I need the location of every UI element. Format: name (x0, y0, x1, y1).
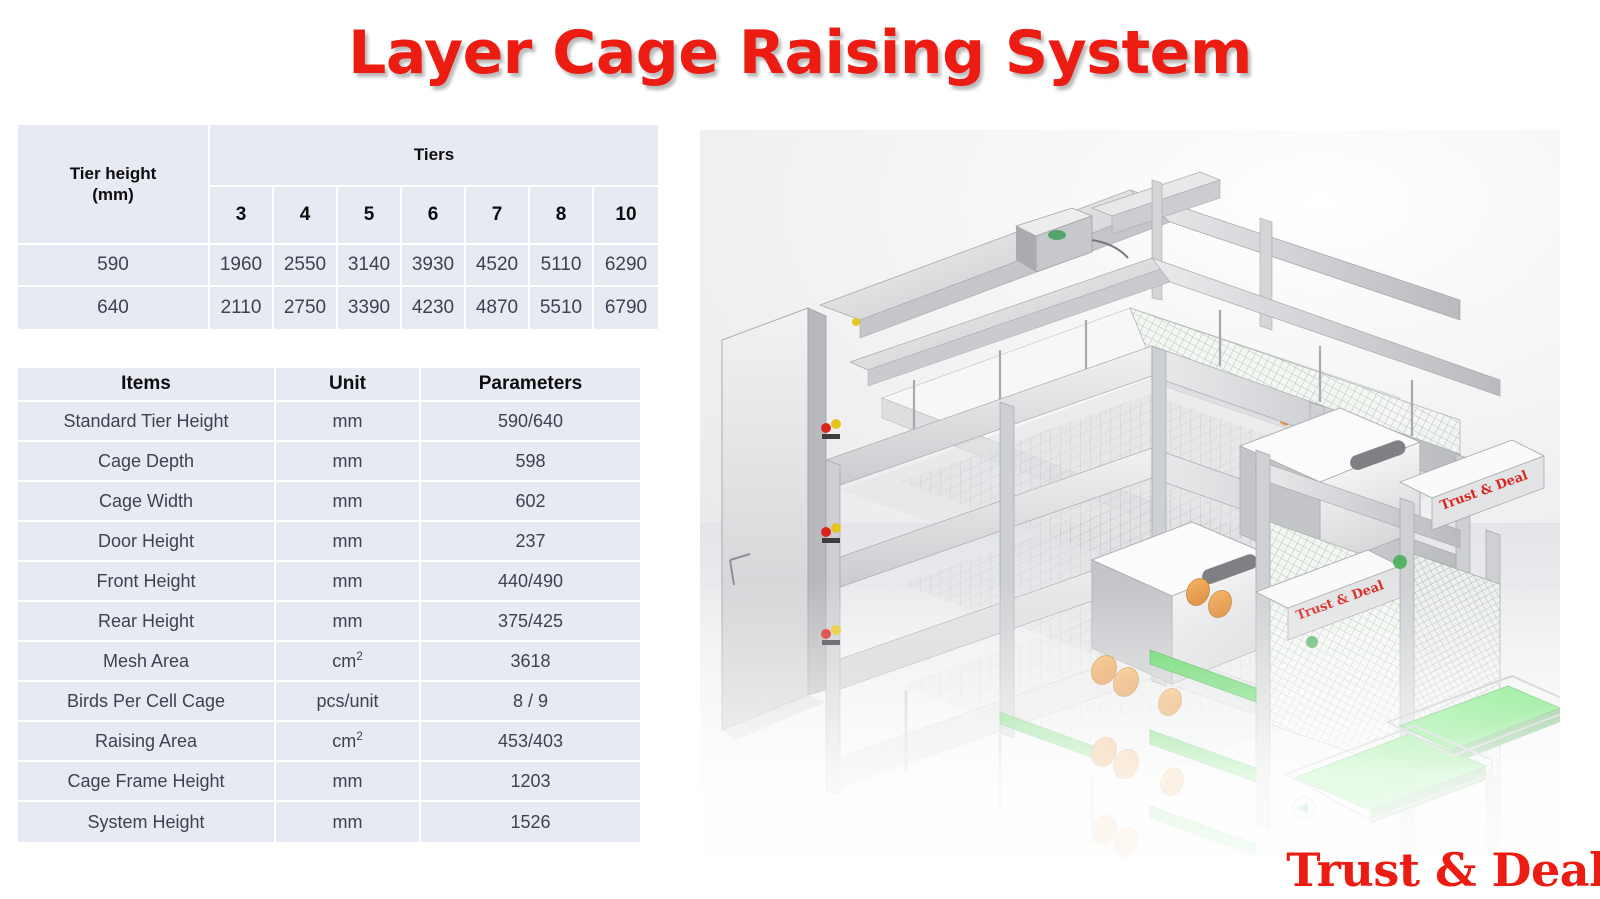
table-row: System Heightmm1526 (18, 802, 640, 842)
param-unit: pcs/unit (276, 682, 421, 722)
table-row: Rear Heightmm375/425 (18, 602, 640, 642)
product-render-panel: Trust & Deal Trust & Deal (700, 130, 1560, 858)
cell-590-5: 3140 (338, 245, 402, 287)
cell-590-6: 3930 (402, 245, 466, 287)
tier-height-corner-header: Tier height (mm) (18, 125, 210, 245)
cell-590-8: 5110 (530, 245, 594, 287)
param-item: Cage Frame Height (18, 762, 276, 802)
param-unit: mm (276, 522, 421, 562)
param-value: 590/640 (421, 402, 640, 442)
page-title: Layer Cage Raising System (0, 18, 1600, 88)
param-item: Standard Tier Height (18, 402, 276, 442)
param-item: Cage Depth (18, 442, 276, 482)
param-unit: mm (276, 762, 421, 802)
param-unit-text: mm (333, 451, 363, 471)
col-header-parameters: Parameters (421, 368, 640, 402)
param-item: Raising Area (18, 722, 276, 762)
param-unit-text: cm (332, 651, 356, 671)
param-unit: mm (276, 602, 421, 642)
table-row: Mesh Areacm23618 (18, 642, 640, 682)
param-unit: mm (276, 802, 421, 842)
parameters-table: Items Unit Parameters Standard Tier Heig… (18, 368, 640, 842)
table-row: Cage Widthmm602 (18, 482, 640, 522)
param-unit-text: pcs/unit (316, 691, 378, 711)
param-value: 8 / 9 (421, 682, 640, 722)
param-value: 453/403 (421, 722, 640, 762)
param-item: Cage Width (18, 482, 276, 522)
param-unit-text: cm (332, 731, 356, 751)
param-unit-exponent: 2 (356, 649, 363, 663)
tier-col-header-10: 10 (594, 187, 658, 245)
table-row: Door Heightmm237 (18, 522, 640, 562)
tier-col-header-6: 6 (402, 187, 466, 245)
corner-label-line2: (mm) (92, 185, 134, 204)
cell-640-3: 2110 (210, 287, 274, 329)
param-unit: mm (276, 402, 421, 442)
table-row: Cage Depthmm598 (18, 442, 640, 482)
param-value: 375/425 (421, 602, 640, 642)
param-unit: mm (276, 482, 421, 522)
param-unit-text: mm (333, 571, 363, 591)
param-value: 3618 (421, 642, 640, 682)
table-row: Raising Areacm2453/403 (18, 722, 640, 762)
param-item: Front Height (18, 562, 276, 602)
param-unit-text: mm (333, 771, 363, 791)
param-item: Door Height (18, 522, 276, 562)
param-unit-exponent: 2 (356, 729, 363, 743)
cell-640-8: 5510 (530, 287, 594, 329)
tier-height-table: Tier height (mm) Tiers 3 4 5 6 7 8 10 59… (18, 125, 658, 329)
param-unit-text: mm (333, 411, 363, 431)
table-row: Front Heightmm440/490 (18, 562, 640, 602)
cell-590-10: 6290 (594, 245, 658, 287)
cell-590-4: 2550 (274, 245, 338, 287)
param-unit: mm (276, 562, 421, 602)
cell-590-3: 1960 (210, 245, 274, 287)
corner-label-line1: Tier height (70, 164, 157, 183)
tiers-group-header: Tiers (210, 125, 658, 187)
table-row: Birds Per Cell Cagepcs/unit8 / 9 (18, 682, 640, 722)
table-row: 640 2110 2750 3390 4230 4870 5510 6790 (18, 287, 658, 329)
tier-height-value-590: 590 (18, 245, 210, 287)
watermark-brand: Trust & Deal (1286, 843, 1600, 897)
cell-640-5: 3390 (338, 287, 402, 329)
param-unit-text: mm (333, 812, 363, 832)
render-fog-overlay (700, 581, 1560, 858)
tier-height-value-640: 640 (18, 287, 210, 329)
cell-640-4: 2750 (274, 287, 338, 329)
param-value: 598 (421, 442, 640, 482)
param-value: 1203 (421, 762, 640, 802)
param-unit-text: mm (333, 611, 363, 631)
table-row: Cage Frame Heightmm1203 (18, 762, 640, 802)
cell-590-7: 4520 (466, 245, 530, 287)
param-unit: cm2 (276, 642, 421, 682)
table-header-row: Items Unit Parameters (18, 368, 640, 402)
tier-col-header-4: 4 (274, 187, 338, 245)
param-value: 602 (421, 482, 640, 522)
cell-640-10: 6790 (594, 287, 658, 329)
tier-col-header-8: 8 (530, 187, 594, 245)
param-item: Rear Height (18, 602, 276, 642)
param-unit: cm2 (276, 722, 421, 762)
param-unit-text: mm (333, 531, 363, 551)
col-header-unit: Unit (276, 368, 421, 402)
table-row: 590 1960 2550 3140 3930 4520 5110 6290 (18, 245, 658, 287)
slide-root: Layer Cage Raising System Tier height (m… (0, 0, 1600, 899)
table-row: Tier height (mm) Tiers (18, 125, 658, 187)
tier-col-header-3: 3 (210, 187, 274, 245)
param-item: Mesh Area (18, 642, 276, 682)
cell-640-7: 4870 (466, 287, 530, 329)
tier-col-header-7: 7 (466, 187, 530, 245)
param-value: 1526 (421, 802, 640, 842)
param-item: System Height (18, 802, 276, 842)
param-value: 237 (421, 522, 640, 562)
param-item: Birds Per Cell Cage (18, 682, 276, 722)
param-value: 440/490 (421, 562, 640, 602)
param-unit: mm (276, 442, 421, 482)
tier-col-header-5: 5 (338, 187, 402, 245)
param-unit-text: mm (333, 491, 363, 511)
cell-640-6: 4230 (402, 287, 466, 329)
col-header-items: Items (18, 368, 276, 402)
table-row: Standard Tier Heightmm590/640 (18, 402, 640, 442)
